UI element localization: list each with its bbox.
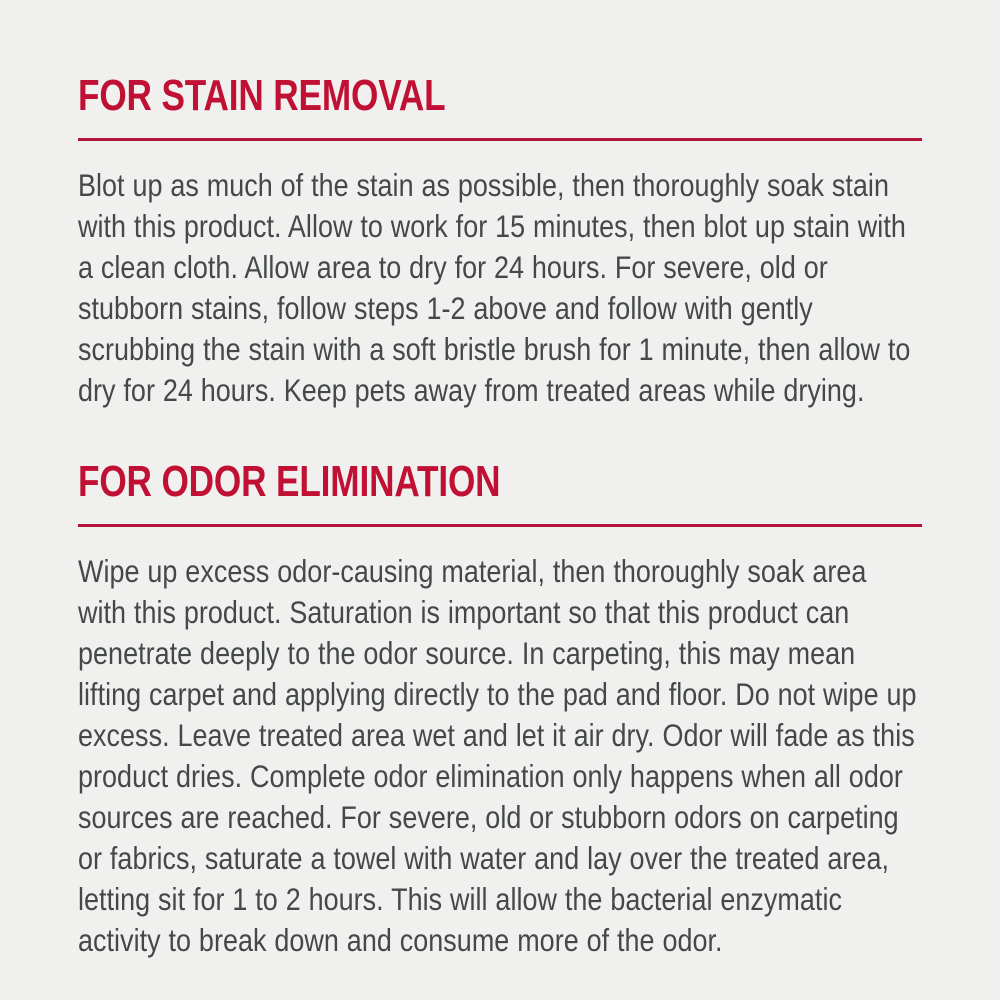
instructions-page: FOR STAIN REMOVAL Blot up as much of the… [0,0,1000,1000]
section-body-odor-elimination: Wipe up excess odor-causing material, th… [78,551,921,961]
section-body-stain-removal: Blot up as much of the stain as possible… [78,165,921,411]
section-divider-stain-removal [78,138,922,141]
section-heading-stain-removal: FOR STAIN REMOVAL [78,72,753,120]
section-heading-odor-elimination: FOR ODOR ELIMINATION [78,458,753,506]
section-stain-removal: FOR STAIN REMOVAL Blot up as much of the… [78,72,922,411]
section-divider-odor-elimination [78,524,922,527]
section-odor-elimination: FOR ODOR ELIMINATION Wipe up excess odor… [78,458,922,961]
